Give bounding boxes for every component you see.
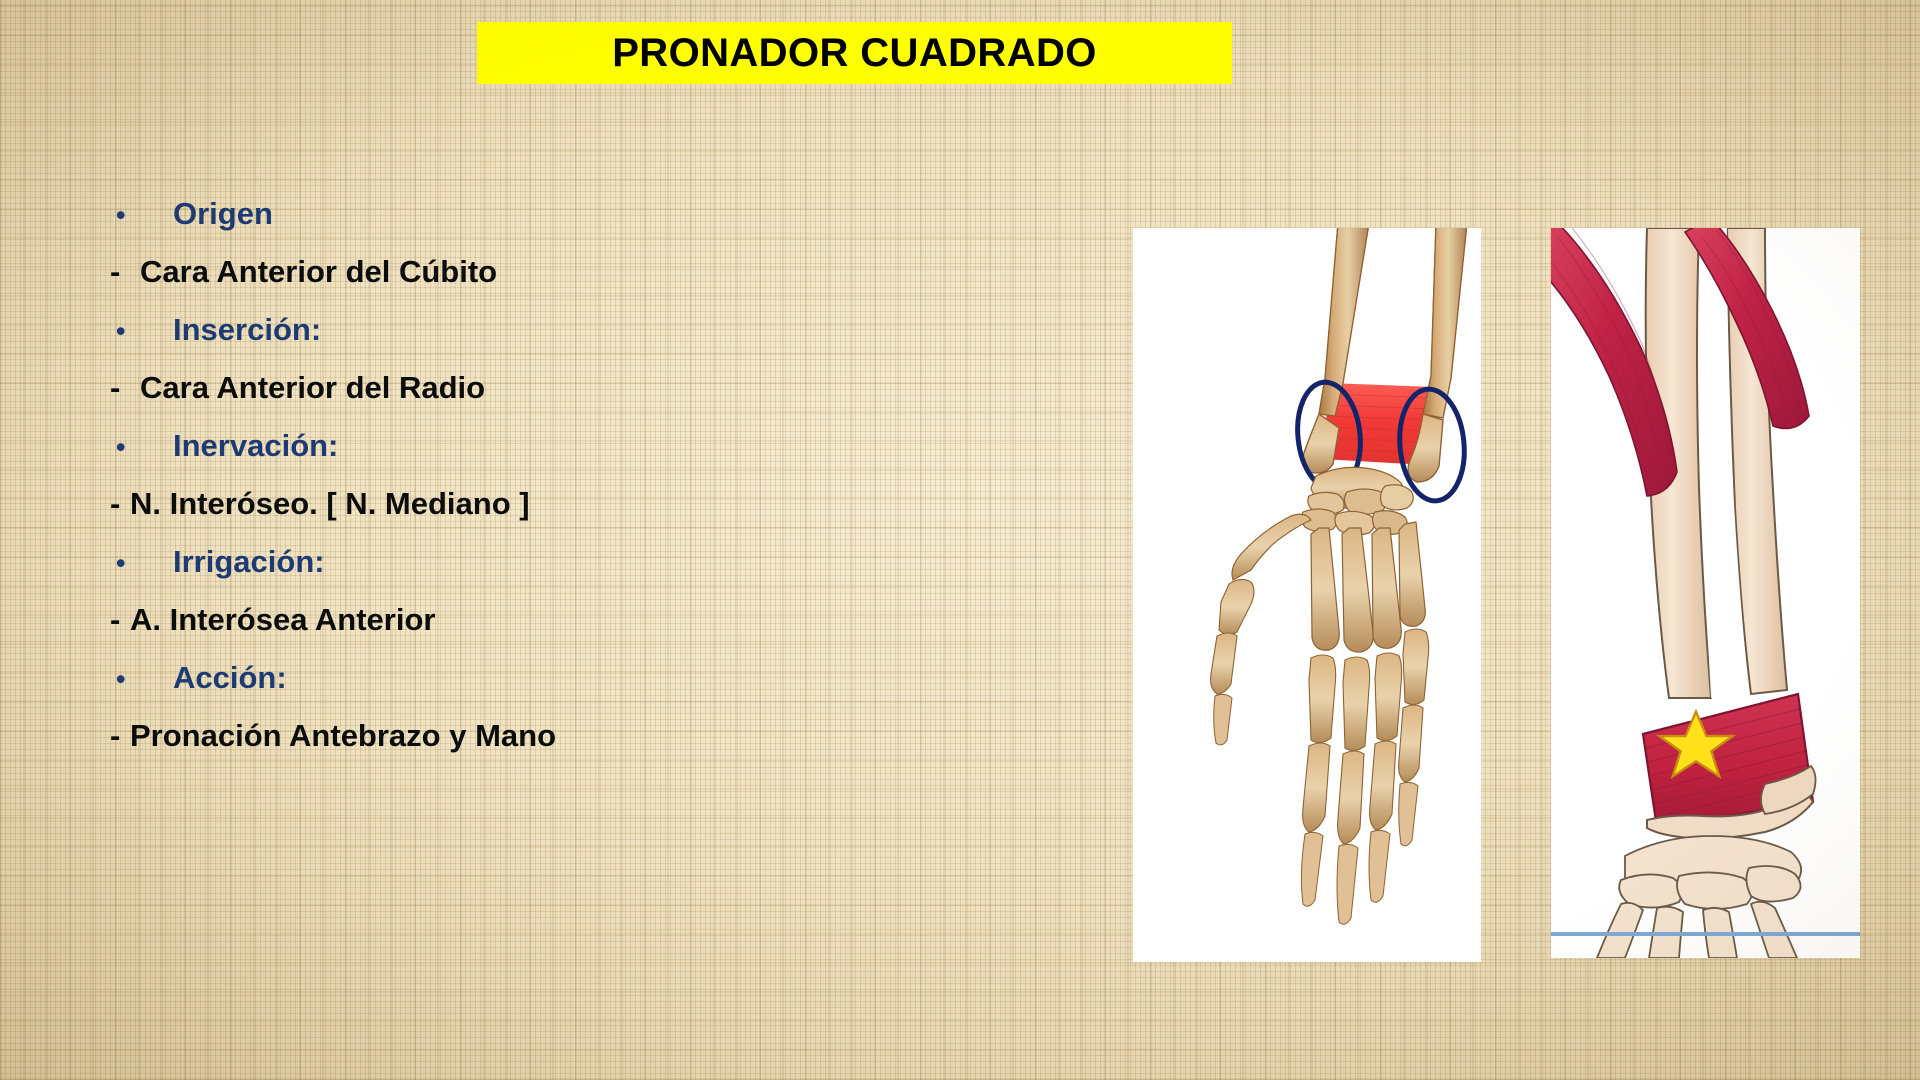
list-item-label: Cara Anterior del Radio bbox=[130, 370, 485, 406]
list-item-label: Inserción: bbox=[173, 312, 321, 348]
list-item-origen: • Origen bbox=[110, 196, 850, 254]
slide-background: PRONADOR CUADRADO • Origen - Cara Anteri… bbox=[0, 0, 1920, 1080]
list-item-insercion: • Inserción: bbox=[110, 312, 850, 370]
list-item-irrigacion-value: - A. Interósea Anterior bbox=[110, 602, 850, 660]
list-item-label: Pronación Antebrazo y Mano bbox=[130, 718, 556, 754]
dash-icon: - bbox=[110, 602, 130, 638]
list-item-inervacion-value: - N. Interóseo. [ N. Mediano ] bbox=[110, 486, 850, 544]
list-item-label: Inervación: bbox=[173, 428, 338, 464]
page-title: PRONADOR CUADRADO bbox=[612, 31, 1097, 76]
bullet-icon: • bbox=[110, 666, 173, 693]
bullet-icon: • bbox=[110, 550, 173, 577]
figure-anterior-forearm-muscles bbox=[1551, 228, 1860, 958]
dash-icon: - bbox=[110, 718, 130, 754]
figure-skeletal-forearm-hand bbox=[1133, 228, 1481, 962]
list-item-label: N. Interóseo. [ N. Mediano ] bbox=[130, 486, 530, 522]
bullet-icon: • bbox=[110, 318, 173, 345]
list-item-irrigacion: • Irrigación: bbox=[110, 544, 850, 602]
list-item-label: Irrigación: bbox=[173, 544, 325, 580]
list-item-accion: • Acción: bbox=[110, 660, 850, 718]
muscle-attributes-list: • Origen - Cara Anterior del Cúbito • In… bbox=[110, 196, 850, 776]
list-item-label: Acción: bbox=[173, 660, 287, 696]
list-item-accion-value: - Pronación Antebrazo y Mano bbox=[110, 718, 850, 776]
list-item-label: Cara Anterior del Cúbito bbox=[130, 254, 497, 290]
forearm-muscles-illustration bbox=[1551, 228, 1860, 958]
title-highlight-band: PRONADOR CUADRADO bbox=[477, 22, 1232, 84]
bullet-icon: • bbox=[110, 434, 173, 461]
dash-icon: - bbox=[110, 370, 130, 406]
list-item-origen-value: - Cara Anterior del Cúbito bbox=[110, 254, 850, 312]
list-item-inervacion: • Inervación: bbox=[110, 428, 850, 486]
baseline-rule bbox=[1551, 932, 1860, 936]
bullet-icon: • bbox=[110, 202, 173, 229]
list-item-insercion-value: - Cara Anterior del Radio bbox=[110, 370, 850, 428]
dash-icon: - bbox=[110, 486, 130, 522]
list-item-label: Origen bbox=[173, 196, 273, 232]
list-item-label: A. Interósea Anterior bbox=[130, 602, 435, 638]
skeletal-hand-illustration bbox=[1133, 228, 1481, 962]
dash-icon: - bbox=[110, 254, 130, 290]
